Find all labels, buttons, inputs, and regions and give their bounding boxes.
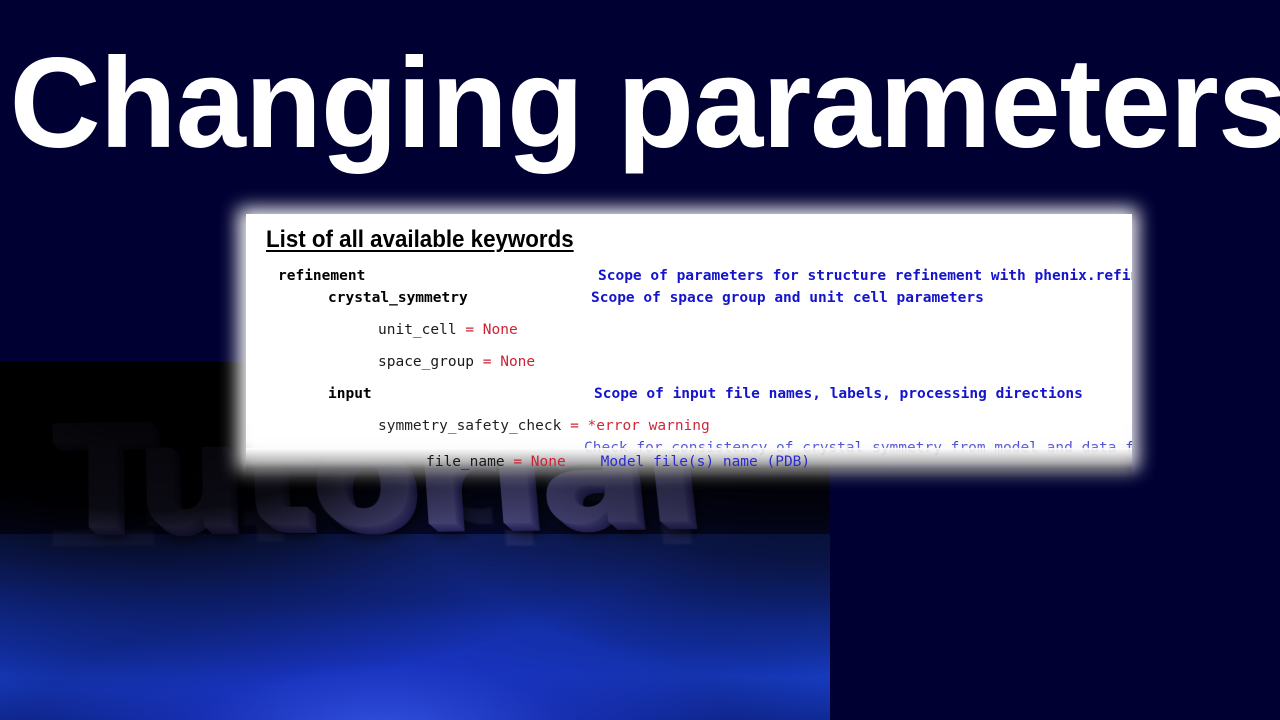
keyword-segment: input: [328, 386, 372, 402]
keyword-segment: space_group: [378, 354, 483, 370]
page-title: Changing parameters: [10, 34, 1271, 174]
keyword-row-spacer: [246, 462, 1132, 466]
keyword-row-spacer: [246, 376, 1132, 386]
keyword-name: refinement: [278, 268, 365, 284]
keyword-name: input: [328, 386, 372, 402]
keyword-description: Scope of parameters for structure refine…: [598, 268, 1132, 284]
keyword-description: Check for consistency of crystal symmetr…: [584, 440, 1132, 456]
keyword-row-spacer: [246, 312, 1132, 322]
keyword-list: refinementScope of parameters for struct…: [246, 268, 1132, 466]
keyword-segment: = *error warning: [570, 418, 710, 434]
keyword-name: crystal_symmetry: [328, 290, 468, 306]
keyword-segment: crystal_symmetry: [328, 290, 468, 306]
keyword-row: space_group = None: [246, 354, 1132, 376]
keyword-row-spacer: [246, 408, 1132, 418]
keyword-segment: unit_cell: [378, 322, 465, 338]
keyword-row-spacer: [246, 344, 1132, 354]
description-segment: Scope of parameters for structure refine…: [598, 268, 1132, 284]
keyword-row: Check for consistency of crystal symmetr…: [246, 440, 1132, 462]
keywords-panel: List of all available keywords refinemen…: [246, 214, 1132, 466]
keyword-segment: symmetry_safety_check: [378, 418, 570, 434]
keyword-row: symmetry_safety_check = *error warning: [246, 418, 1132, 440]
keyword-segment: = None: [465, 322, 517, 338]
description-segment: Check for consistency of crystal symmetr…: [584, 440, 1132, 456]
keyword-segment: = None: [483, 354, 535, 370]
keyword-row: unit_cell = None: [246, 322, 1132, 344]
keyword-name: unit_cell = None: [378, 322, 518, 338]
keyword-row: inputScope of input file names, labels, …: [246, 386, 1132, 408]
description-segment: Scope of input file names, labels, proce…: [594, 386, 1083, 402]
panel-heading: List of all available keywords: [266, 226, 574, 254]
slide-canvas: Changing parameters Tutorial Tutorial Li…: [0, 0, 1280, 720]
keyword-row: crystal_symmetryScope of space group and…: [246, 290, 1132, 312]
keyword-segment: refinement: [278, 268, 365, 284]
keyword-row: refinementScope of parameters for struct…: [246, 268, 1132, 290]
keyword-name: space_group = None: [378, 354, 535, 370]
keyword-description: Scope of space group and unit cell param…: [591, 290, 984, 306]
keyword-description: Scope of input file names, labels, proce…: [594, 386, 1083, 402]
keyword-name: symmetry_safety_check = *error warning: [378, 418, 710, 434]
description-segment: Scope of space group and unit cell param…: [591, 290, 984, 306]
